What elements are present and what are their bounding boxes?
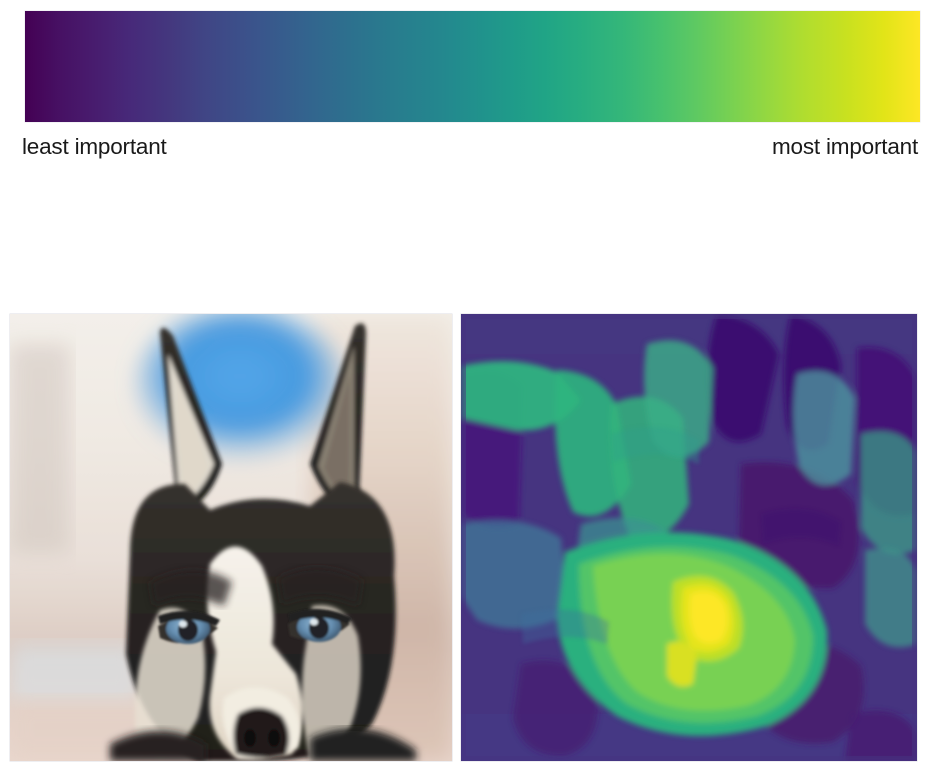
colorbar-min-label: least important xyxy=(22,134,167,160)
husky-photo xyxy=(10,314,452,761)
image-panels-row xyxy=(0,314,926,761)
legend-section: least important most important xyxy=(0,0,926,175)
importance-colorbar xyxy=(25,11,920,122)
saliency-heatmap xyxy=(461,314,917,761)
colorbar-max-label: most important xyxy=(772,134,918,160)
input-image-panel xyxy=(10,314,452,761)
saliency-map-panel xyxy=(461,314,917,761)
